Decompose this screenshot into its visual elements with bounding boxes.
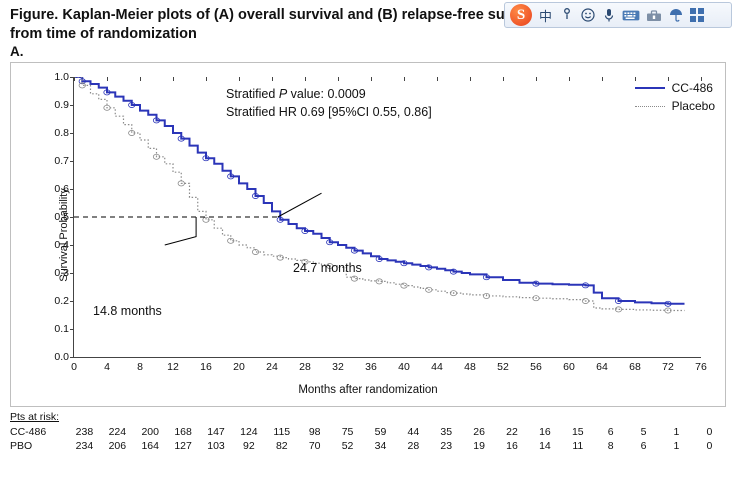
median-leader-line-cc486 bbox=[278, 193, 322, 217]
x-tick-label: 72 bbox=[662, 361, 674, 373]
risk-cell: 52 bbox=[331, 439, 364, 453]
risk-cell: 26 bbox=[463, 425, 496, 439]
x-tick-mark bbox=[404, 77, 405, 81]
x-tick-label: 60 bbox=[563, 361, 575, 373]
y-tick-label: 1.0 bbox=[54, 71, 69, 83]
y-tick-mark bbox=[70, 273, 74, 274]
y-tick-label: 0.3 bbox=[54, 267, 69, 279]
risk-cell: 82 bbox=[265, 439, 298, 453]
risk-cell: 124 bbox=[232, 425, 265, 439]
table-row: CC-4862382242001681471241159875594435262… bbox=[10, 425, 726, 439]
risk-cell: 16 bbox=[496, 439, 529, 453]
x-axis-label: Months after randomization bbox=[11, 384, 725, 396]
x-tick-label: 44 bbox=[431, 361, 443, 373]
y-tick-mark bbox=[70, 329, 74, 330]
risk-cell: 147 bbox=[200, 425, 233, 439]
risk-cell: 6 bbox=[627, 439, 660, 453]
language-mode-icon[interactable]: 中 bbox=[538, 5, 553, 25]
risk-cell: 0 bbox=[693, 425, 726, 439]
x-tick-label: 12 bbox=[167, 361, 179, 373]
x-tick-label: 40 bbox=[398, 361, 410, 373]
stats-p-value: Stratified P value: 0.0009 bbox=[226, 85, 432, 103]
risk-cell: 103 bbox=[200, 439, 233, 453]
risk-cell: 44 bbox=[397, 425, 430, 439]
y-tick-mark bbox=[70, 161, 74, 162]
keyboard-icon[interactable] bbox=[622, 5, 640, 25]
risk-cell: 28 bbox=[397, 439, 430, 453]
risk-cell: 206 bbox=[101, 439, 134, 453]
risk-cell: 1 bbox=[660, 439, 693, 453]
legend-swatch-placebo bbox=[635, 106, 665, 107]
stats-hazard-ratio: Stratified HR 0.69 [95%CI 0.55, 0.86] bbox=[226, 103, 432, 121]
statistics-annotation: Stratified P value: 0.0009 Stratified HR… bbox=[226, 85, 432, 121]
x-tick-label: 20 bbox=[233, 361, 245, 373]
panel-label-a: A. bbox=[10, 44, 24, 59]
emoji-icon[interactable] bbox=[580, 5, 595, 25]
y-tick-label: 0.2 bbox=[54, 295, 69, 307]
risk-cell: 5 bbox=[627, 425, 660, 439]
y-tick-label: 0.7 bbox=[54, 155, 69, 167]
risk-cell: 16 bbox=[528, 425, 561, 439]
x-tick-mark bbox=[536, 77, 537, 81]
risk-cell: 35 bbox=[430, 425, 463, 439]
legend-item-placebo: Placebo bbox=[635, 97, 715, 115]
x-tick-label: 0 bbox=[71, 361, 77, 373]
median-annotation-placebo: 14.8 months bbox=[93, 304, 162, 318]
x-tick-label: 64 bbox=[596, 361, 608, 373]
y-tick-mark bbox=[70, 245, 74, 246]
y-tick-label: 0.4 bbox=[54, 239, 69, 251]
y-tick-mark bbox=[70, 189, 74, 190]
risk-cell: 14 bbox=[528, 439, 561, 453]
x-tick-mark bbox=[569, 77, 570, 81]
y-tick-label: 0.1 bbox=[54, 323, 69, 335]
x-tick-label: 4 bbox=[104, 361, 110, 373]
stats-p-italic: P bbox=[279, 87, 287, 101]
risk-table-title: Pts at risk: bbox=[10, 411, 726, 423]
legend-item-cc486: CC-486 bbox=[635, 79, 715, 97]
y-tick-mark bbox=[70, 301, 74, 302]
y-tick-label: 0.5 bbox=[54, 211, 69, 223]
x-tick-label: 24 bbox=[266, 361, 278, 373]
x-tick-label: 52 bbox=[497, 361, 509, 373]
y-tick-label: 0.6 bbox=[54, 183, 69, 195]
umbrella-icon[interactable] bbox=[668, 5, 683, 25]
risk-cell: 59 bbox=[364, 425, 397, 439]
sogou-logo-icon[interactable]: S bbox=[510, 4, 532, 26]
risk-cell: 234 bbox=[68, 439, 101, 453]
x-tick-mark bbox=[272, 77, 273, 81]
risk-cell: 98 bbox=[298, 425, 331, 439]
stats-suffix: value: 0.0009 bbox=[287, 87, 366, 101]
risk-cell: 127 bbox=[167, 439, 200, 453]
risk-cell: 19 bbox=[463, 439, 496, 453]
legend-label-placebo: Placebo bbox=[672, 99, 715, 113]
stats-prefix: Stratified bbox=[226, 87, 279, 101]
risk-cell: 22 bbox=[496, 425, 529, 439]
x-tick-mark bbox=[602, 77, 603, 81]
x-tick-label: 8 bbox=[137, 361, 143, 373]
x-tick-mark bbox=[338, 77, 339, 81]
x-tick-label: 36 bbox=[365, 361, 377, 373]
risk-cell: 1 bbox=[660, 425, 693, 439]
chart-legend: CC-486 Placebo bbox=[635, 79, 715, 115]
x-tick-mark bbox=[470, 77, 471, 81]
median-leader-line-placebo bbox=[165, 217, 196, 245]
x-tick-mark bbox=[239, 77, 240, 81]
y-tick-mark bbox=[70, 217, 74, 218]
x-tick-mark bbox=[503, 77, 504, 81]
risk-cell: 23 bbox=[430, 439, 463, 453]
risk-row-label: PBO bbox=[10, 439, 68, 453]
y-tick-label: 0.0 bbox=[54, 351, 69, 363]
y-tick-mark bbox=[70, 133, 74, 134]
x-tick-label: 32 bbox=[332, 361, 344, 373]
table-row: PBO2342061641271039282705234282319161411… bbox=[10, 439, 726, 453]
toolbox-icon[interactable] bbox=[646, 5, 662, 25]
x-tick-mark bbox=[140, 77, 141, 81]
x-tick-mark bbox=[173, 77, 174, 81]
risk-cell: 6 bbox=[594, 425, 627, 439]
x-tick-label: 48 bbox=[464, 361, 476, 373]
risk-row-label: CC-486 bbox=[10, 425, 68, 439]
risk-cell: 200 bbox=[134, 425, 167, 439]
risk-cell: 115 bbox=[265, 425, 298, 439]
risk-cell: 0 bbox=[693, 439, 726, 453]
pts-at-risk-table: Pts at risk: CC-486238224200168147124115… bbox=[10, 411, 726, 453]
x-tick-mark bbox=[107, 77, 108, 81]
y-tick-mark bbox=[70, 357, 74, 358]
risk-cell: 224 bbox=[101, 425, 134, 439]
x-tick-mark bbox=[305, 77, 306, 81]
risk-cell: 75 bbox=[331, 425, 364, 439]
x-tick-mark bbox=[371, 77, 372, 81]
risk-cell: 92 bbox=[232, 439, 265, 453]
kaplan-meier-chart: Survival Probability Months after random… bbox=[10, 62, 726, 407]
y-tick-label: 0.9 bbox=[54, 99, 69, 111]
risk-cell: 15 bbox=[561, 425, 594, 439]
x-tick-label: 76 bbox=[695, 361, 707, 373]
median-annotation-cc486: 24.7 months bbox=[293, 261, 362, 275]
x-tick-label: 56 bbox=[530, 361, 542, 373]
x-tick-label: 16 bbox=[200, 361, 212, 373]
ime-toolbar[interactable]: S 中 bbox=[504, 2, 732, 28]
risk-cell: 70 bbox=[298, 439, 331, 453]
risk-cell: 34 bbox=[364, 439, 397, 453]
legend-label-cc486: CC-486 bbox=[672, 81, 713, 95]
punctuation-mode-icon[interactable] bbox=[559, 5, 574, 25]
risk-cell: 8 bbox=[594, 439, 627, 453]
risk-cell: 11 bbox=[561, 439, 594, 453]
x-tick-mark bbox=[74, 77, 75, 81]
microphone-icon[interactable] bbox=[601, 5, 616, 25]
apps-grid-icon[interactable] bbox=[689, 5, 704, 25]
x-tick-label: 68 bbox=[629, 361, 641, 373]
x-tick-mark bbox=[206, 77, 207, 81]
risk-cell: 238 bbox=[68, 425, 101, 439]
y-tick-label: 0.8 bbox=[54, 127, 69, 139]
y-tick-mark bbox=[70, 105, 74, 106]
risk-cell: 168 bbox=[167, 425, 200, 439]
censor-mark bbox=[401, 283, 407, 288]
legend-swatch-cc486 bbox=[635, 87, 665, 89]
x-tick-label: 28 bbox=[299, 361, 311, 373]
risk-table: CC-4862382242001681471241159875594435262… bbox=[10, 425, 726, 453]
x-tick-mark bbox=[437, 77, 438, 81]
title-line-1: Figure. Kaplan-Meier plots of (A) overal… bbox=[10, 7, 543, 23]
risk-cell: 164 bbox=[134, 439, 167, 453]
